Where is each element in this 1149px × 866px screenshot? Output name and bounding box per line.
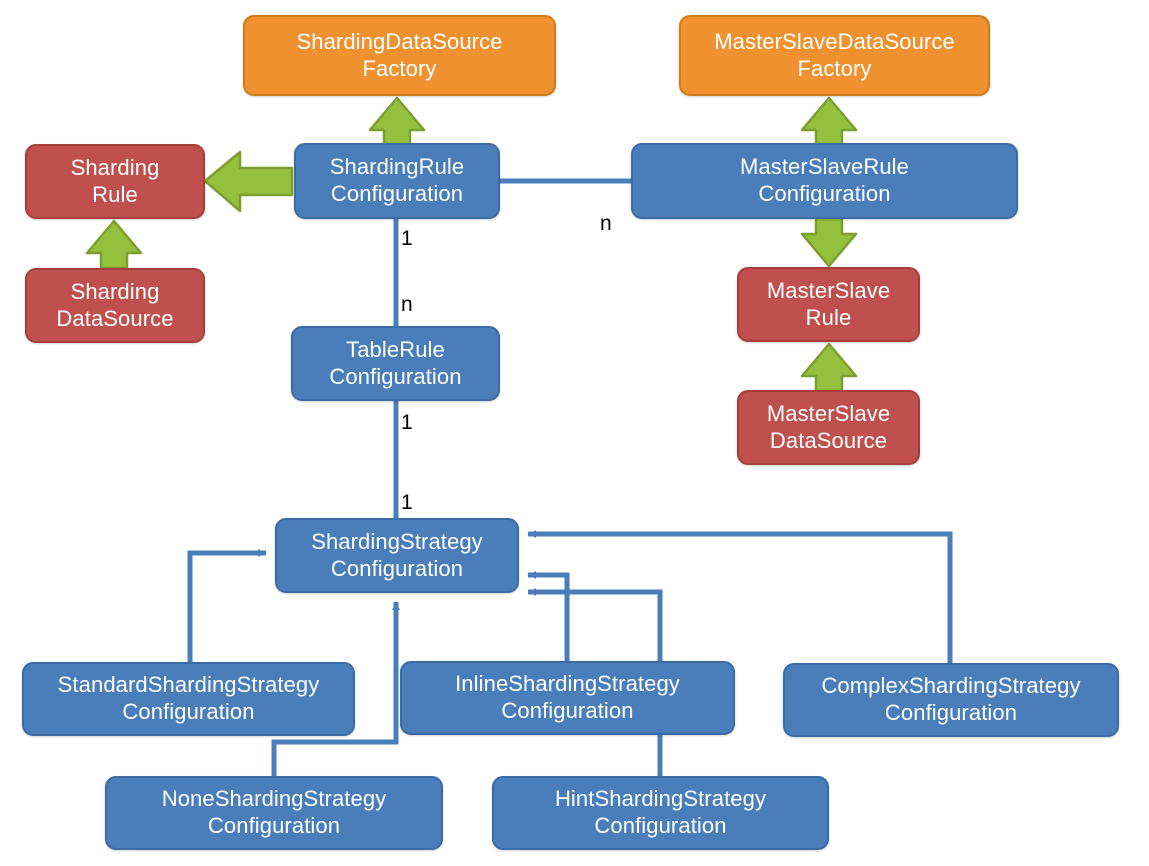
node-label: MasterSlaveRuleConfiguration	[740, 154, 909, 208]
node-label-line1: ShardingDataSource	[296, 29, 502, 56]
node-hint-sharding-strategy-configuration[interactable]: HintShardingStrategyConfiguration	[492, 776, 829, 850]
node-label: ComplexShardingStrategyConfiguration	[821, 673, 1080, 727]
green-arrow-masterslaveruleconfig-to-factory	[802, 98, 856, 145]
node-label-line1: Sharding	[56, 279, 173, 306]
node-label-line1: MasterSlaveDataSource	[714, 29, 955, 56]
node-label-line1: HintShardingStrategy	[555, 786, 766, 813]
green-arrow-masterslaveruleconfig-to-masterslaverule	[802, 217, 856, 266]
node-label-line2: DataSource	[767, 428, 890, 455]
node-label-line1: MasterSlave	[767, 401, 890, 428]
node-label: InlineShardingStrategyConfiguration	[455, 671, 680, 725]
mult-tablerule-bottom-one: 1	[401, 412, 413, 433]
node-label-line1: StandardShardingStrategy	[58, 672, 320, 699]
node-label-line2: Configuration	[162, 813, 387, 840]
green-arrow-shardingruleconfig-to-factory	[370, 98, 424, 145]
node-label-line2: Configuration	[555, 813, 766, 840]
node-label-line2: Configuration	[329, 364, 461, 391]
node-label-line1: ComplexShardingStrategy	[821, 673, 1080, 700]
mult-shardingrule-to-masterslaverule-n: n	[600, 213, 612, 234]
node-label: ShardingStrategyConfiguration	[311, 529, 483, 583]
node-label-line2: Rule	[767, 305, 890, 332]
green-arrow-shardingruleconfig-to-shardingrule	[205, 152, 292, 211]
node-label-line1: MasterSlave	[767, 278, 890, 305]
node-label-line1: NoneShardingStrategy	[162, 786, 387, 813]
mult-shardingrule-to-tablerule-one: 1	[401, 228, 413, 249]
node-label-line1: ShardingRule	[330, 154, 465, 181]
edge-standard-to-strategy	[190, 553, 266, 662]
node-label: ShardingRuleConfiguration	[330, 154, 465, 208]
node-sharding-rule[interactable]: ShardingRule	[25, 144, 205, 219]
node-label: ShardingDataSourceFactory	[296, 29, 502, 83]
node-label-line1: InlineShardingStrategy	[455, 671, 680, 698]
node-label-line1: ShardingStrategy	[311, 529, 483, 556]
node-label-line1: Sharding	[71, 155, 160, 182]
green-arrow-masterslavedatasource-to-masterslaverule	[802, 344, 856, 391]
node-label-line2: Configuration	[455, 698, 680, 725]
node-sharding-rule-configuration[interactable]: ShardingRuleConfiguration	[294, 143, 500, 219]
node-label-line2: Configuration	[821, 700, 1080, 727]
node-masterslave-rule-configuration[interactable]: MasterSlaveRuleConfiguration	[631, 143, 1018, 219]
node-label: HintShardingStrategyConfiguration	[555, 786, 766, 840]
node-label-line2: Factory	[714, 56, 955, 83]
edge-inline-to-strategy	[528, 575, 567, 661]
node-label: TableRuleConfiguration	[329, 337, 461, 391]
mult-strategy-top-one: 1	[401, 492, 413, 513]
node-complex-sharding-strategy-configuration[interactable]: ComplexShardingStrategyConfiguration	[783, 663, 1119, 737]
node-standard-sharding-strategy-configuration[interactable]: StandardShardingStrategyConfiguration	[22, 662, 355, 736]
node-label: StandardShardingStrategyConfiguration	[58, 672, 320, 726]
node-label-line2: Factory	[296, 56, 502, 83]
node-label-line2: Configuration	[740, 181, 909, 208]
node-label: ShardingDataSource	[56, 279, 173, 333]
node-masterslave-datasource-factory[interactable]: MasterSlaveDataSourceFactory	[679, 15, 990, 96]
mult-tablerule-top-n: n	[401, 294, 413, 315]
node-label-line2: DataSource	[56, 306, 173, 333]
node-none-sharding-strategy-configuration[interactable]: NoneShardingStrategyConfiguration	[105, 776, 443, 850]
node-label-line1: MasterSlaveRule	[740, 154, 909, 181]
node-label-line2: Configuration	[311, 556, 483, 583]
node-masterslave-datasource[interactable]: MasterSlaveDataSource	[737, 390, 920, 465]
green-arrow-shardingdatasource-to-shardingrule	[87, 221, 141, 268]
node-label: MasterSlaveDataSourceFactory	[714, 29, 955, 83]
node-sharding-datasource[interactable]: ShardingDataSource	[25, 268, 205, 343]
node-label-line2: Configuration	[330, 181, 465, 208]
node-label: MasterSlaveRule	[767, 278, 890, 332]
edge-complex-to-strategy	[528, 534, 950, 663]
node-label: NoneShardingStrategyConfiguration	[162, 786, 387, 840]
node-masterslave-rule[interactable]: MasterSlaveRule	[737, 267, 920, 342]
node-sharding-datasource-factory[interactable]: ShardingDataSourceFactory	[243, 15, 556, 96]
class-diagram-canvas: ShardingDataSourceFactoryMasterSlaveData…	[0, 0, 1149, 866]
node-label-line2: Rule	[71, 182, 160, 209]
node-label: MasterSlaveDataSource	[767, 401, 890, 455]
node-inline-sharding-strategy-configuration[interactable]: InlineShardingStrategyConfiguration	[400, 661, 735, 735]
node-table-rule-configuration[interactable]: TableRuleConfiguration	[291, 326, 500, 401]
node-label-line2: Configuration	[58, 699, 320, 726]
node-sharding-strategy-configuration[interactable]: ShardingStrategyConfiguration	[275, 518, 519, 593]
node-label-line1: TableRule	[329, 337, 461, 364]
node-label: ShardingRule	[71, 155, 160, 209]
